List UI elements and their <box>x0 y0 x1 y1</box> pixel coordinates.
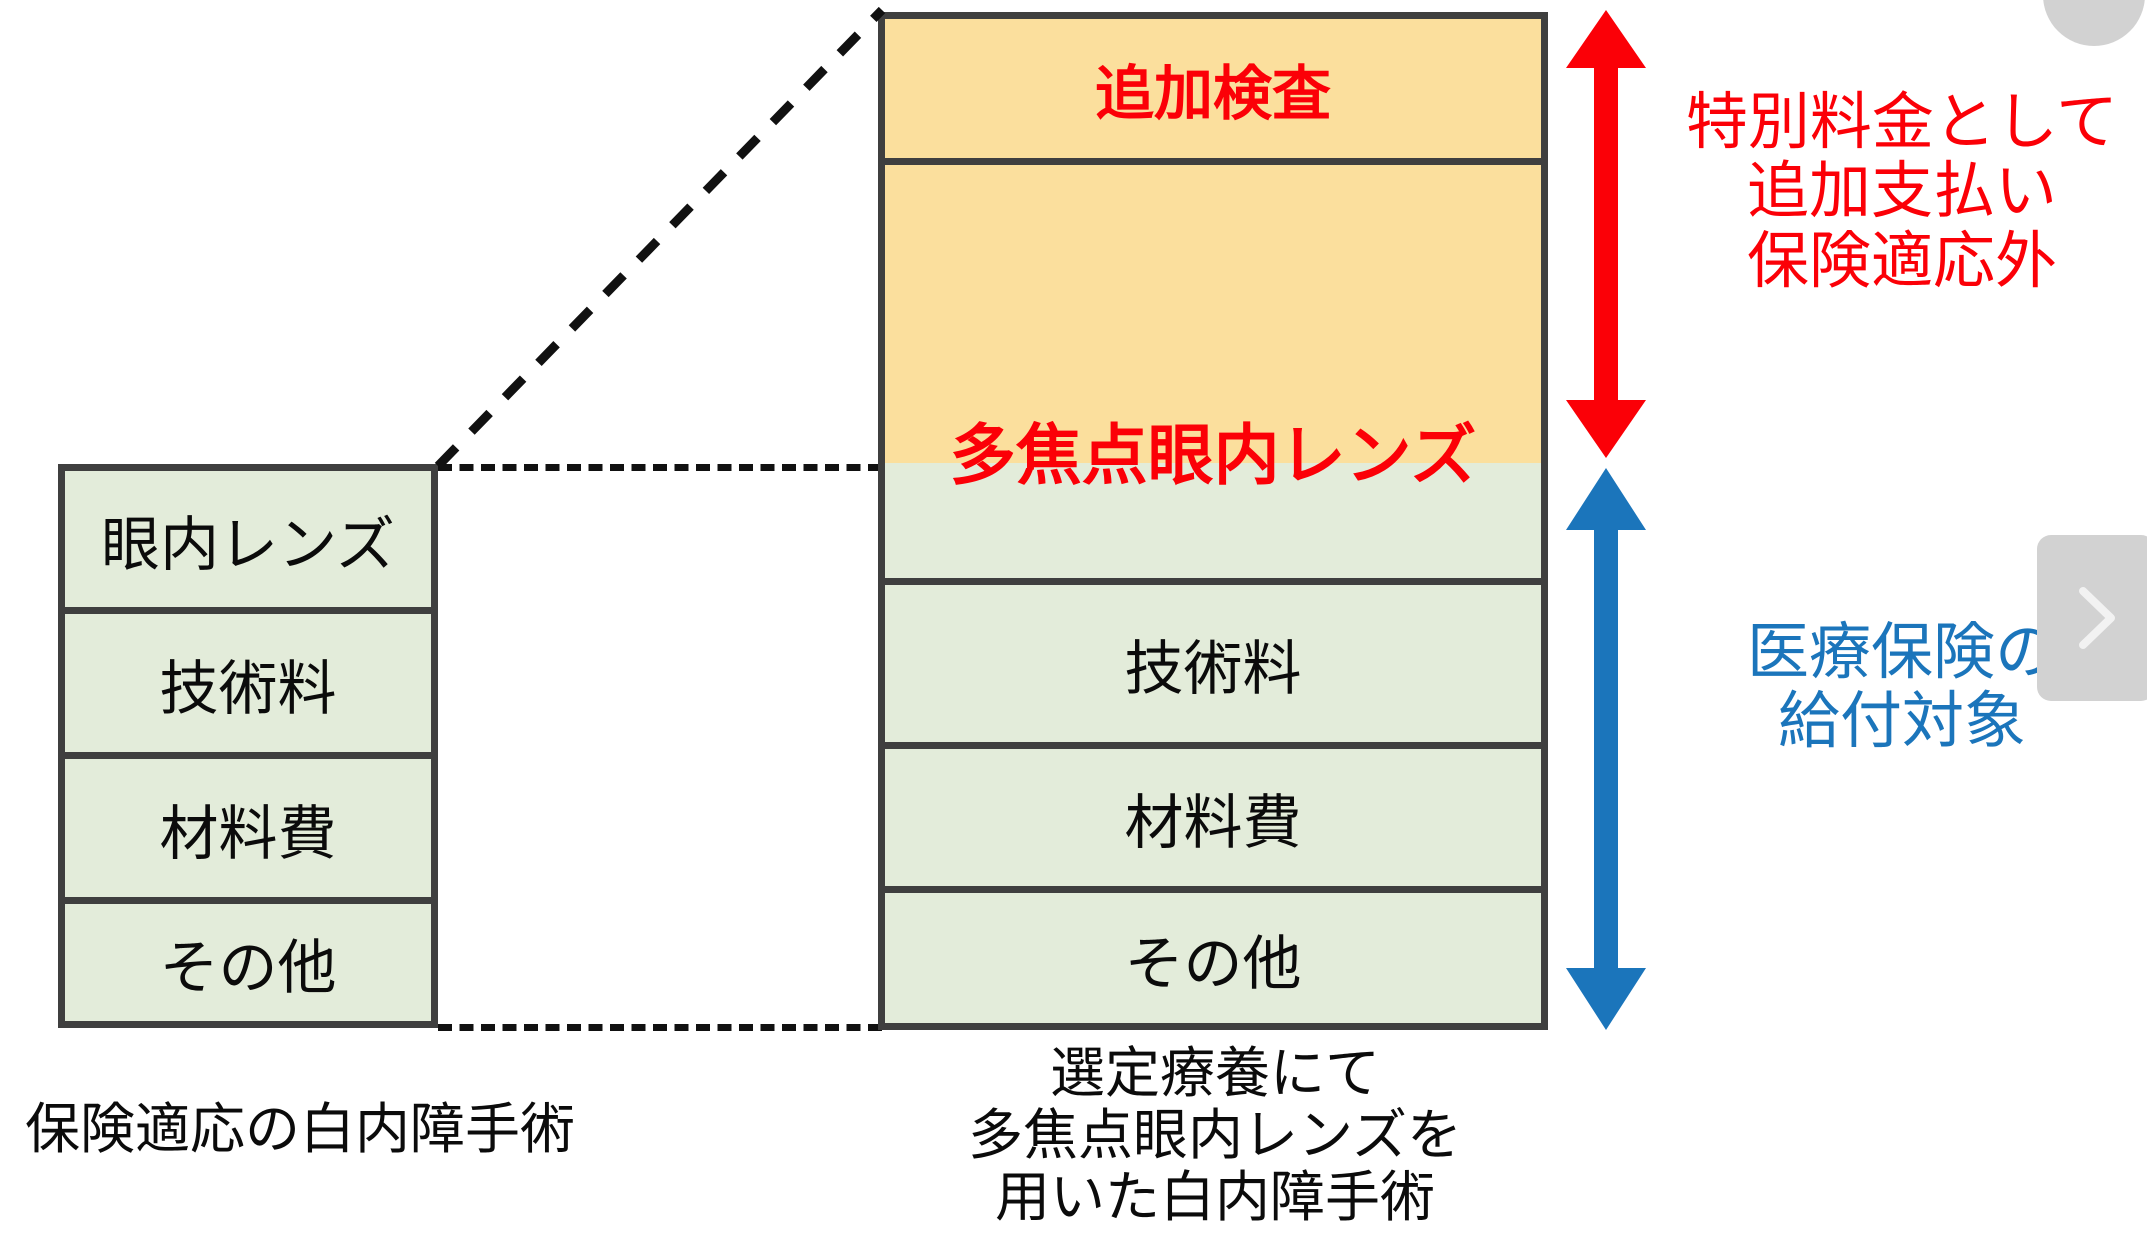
right-segment-other: その他 <box>885 886 1541 1023</box>
right-segment-multifocal-lens-label: 多焦点眼内レンズ <box>878 402 1548 498</box>
connector-dashed-diagonal <box>430 0 900 480</box>
right-segment-technical-fee: 技術料 <box>885 578 1541 742</box>
right-column-caption: 選定療養にて 多焦点眼内レンズを 用いた白内障手術 <box>880 1042 1550 1228</box>
left-segment-lens-label: 眼内レンズ <box>101 497 395 582</box>
out-of-pocket-range-arrow <box>1556 6 1656 462</box>
left-column-stack: 眼内レンズ 技術料 材料費 その他 <box>58 464 438 1028</box>
left-column-caption: 保険適応の白内障手術 <box>0 1098 610 1160</box>
diagram-canvas: 眼内レンズ 技術料 材料費 その他 追加検査 技術料 材料費 その他 <box>0 0 2147 1246</box>
left-segment-other-label: その他 <box>159 920 336 1005</box>
right-column-stack: 追加検査 技術料 材料費 その他 <box>878 12 1548 1030</box>
right-segment-technical-fee-label: 技術料 <box>1124 621 1301 706</box>
right-segment-additional-exam-label: 追加検査 <box>1095 46 1331 131</box>
connector-dashed-bottom <box>438 1024 882 1031</box>
right-segment-other-label: その他 <box>1124 916 1301 1001</box>
left-segment-lens: 眼内レンズ <box>65 471 431 607</box>
left-segment-technical-fee-label: 技術料 <box>159 641 336 726</box>
left-segment-material-cost: 材料費 <box>65 752 431 897</box>
left-segment-other: その他 <box>65 897 431 1021</box>
annotation-out-of-pocket: 特別料金として 追加支払い 保険適応外 <box>1672 88 2132 296</box>
right-segment-additional-exam: 追加検査 <box>885 19 1541 158</box>
left-segment-technical-fee: 技術料 <box>65 607 431 752</box>
carousel-next-button[interactable] <box>2037 535 2147 701</box>
left-segment-material-cost-label: 材料費 <box>159 786 336 871</box>
chevron-right-icon <box>2069 581 2123 655</box>
insurance-coverage-range-arrow <box>1556 464 1656 1034</box>
right-segment-material-cost: 材料費 <box>885 742 1541 886</box>
carousel-indicator-dot[interactable] <box>2043 0 2145 46</box>
right-segment-material-cost-label: 材料費 <box>1124 775 1301 860</box>
